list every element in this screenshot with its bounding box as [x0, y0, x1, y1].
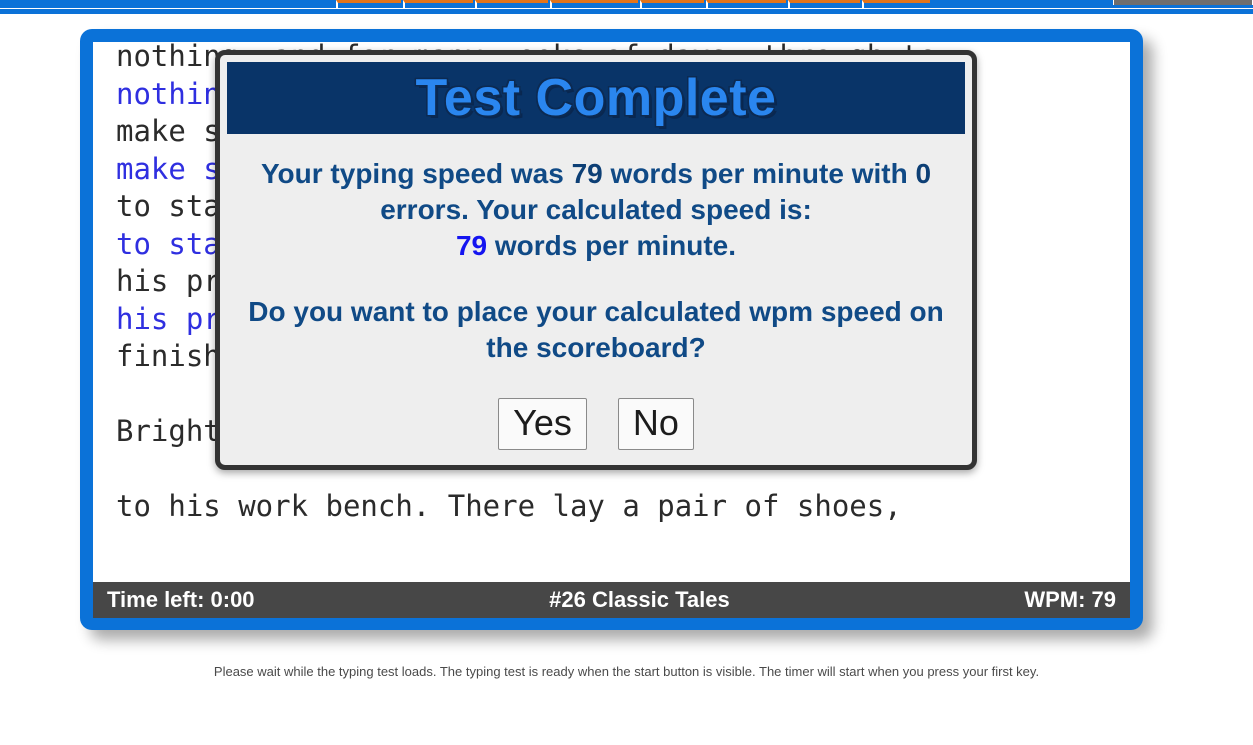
- nav-tab-8[interactable]: [862, 0, 930, 8]
- test-complete-dialog: Test Complete Your typing speed was 79 w…: [215, 50, 977, 470]
- prompt-line: to his work bench. There lay a pair of s…: [116, 488, 1130, 526]
- nav-tab-5[interactable]: [640, 0, 704, 8]
- navbar-right-panel[interactable]: [1113, 0, 1253, 5]
- dialog-body: Your typing speed was 79 words per minut…: [220, 134, 972, 450]
- result-error-count: 0: [915, 158, 931, 189]
- nav-tab-2[interactable]: [403, 0, 473, 8]
- nav-tab-7[interactable]: [788, 0, 860, 8]
- no-button[interactable]: No: [618, 398, 694, 450]
- result-suffix: errors. Your calculated speed is:: [380, 194, 812, 225]
- dialog-title-bar: Test Complete: [227, 62, 965, 134]
- result-prefix: Your typing speed was: [261, 158, 572, 189]
- dialog-button-row: Yes No: [242, 398, 950, 450]
- navbar-underline: [0, 9, 1253, 14]
- top-navigation-bar: [0, 0, 1253, 14]
- nav-tab-4[interactable]: [550, 0, 638, 8]
- dialog-title: Test Complete: [416, 68, 777, 128]
- status-bar: Time left: 0:00 #26 Classic Tales WPM: 7…: [93, 582, 1130, 618]
- passage-title-label: #26 Classic Tales: [255, 587, 1025, 613]
- nav-tab-1[interactable]: [336, 0, 401, 8]
- result-wpm-value: 79: [572, 158, 603, 189]
- result-message: Your typing speed was 79 words per minut…: [242, 156, 950, 264]
- yes-button[interactable]: Yes: [498, 398, 587, 450]
- calculated-speed-line: 79 words per minute.: [242, 228, 950, 264]
- result-middle: words per minute with: [603, 158, 916, 189]
- wpm-label: WPM: 79: [1024, 587, 1116, 613]
- calculated-wpm-suffix: words per minute.: [487, 230, 736, 261]
- calculated-wpm-value: 79: [456, 230, 487, 261]
- nav-tab-6[interactable]: [706, 0, 786, 8]
- nav-tab-3[interactable]: [475, 0, 548, 8]
- scoreboard-question: Do you want to place your calculated wpm…: [242, 294, 950, 366]
- time-left-label: Time left: 0:00: [107, 587, 255, 613]
- footer-instruction-note: Please wait while the typing test loads.…: [0, 664, 1253, 679]
